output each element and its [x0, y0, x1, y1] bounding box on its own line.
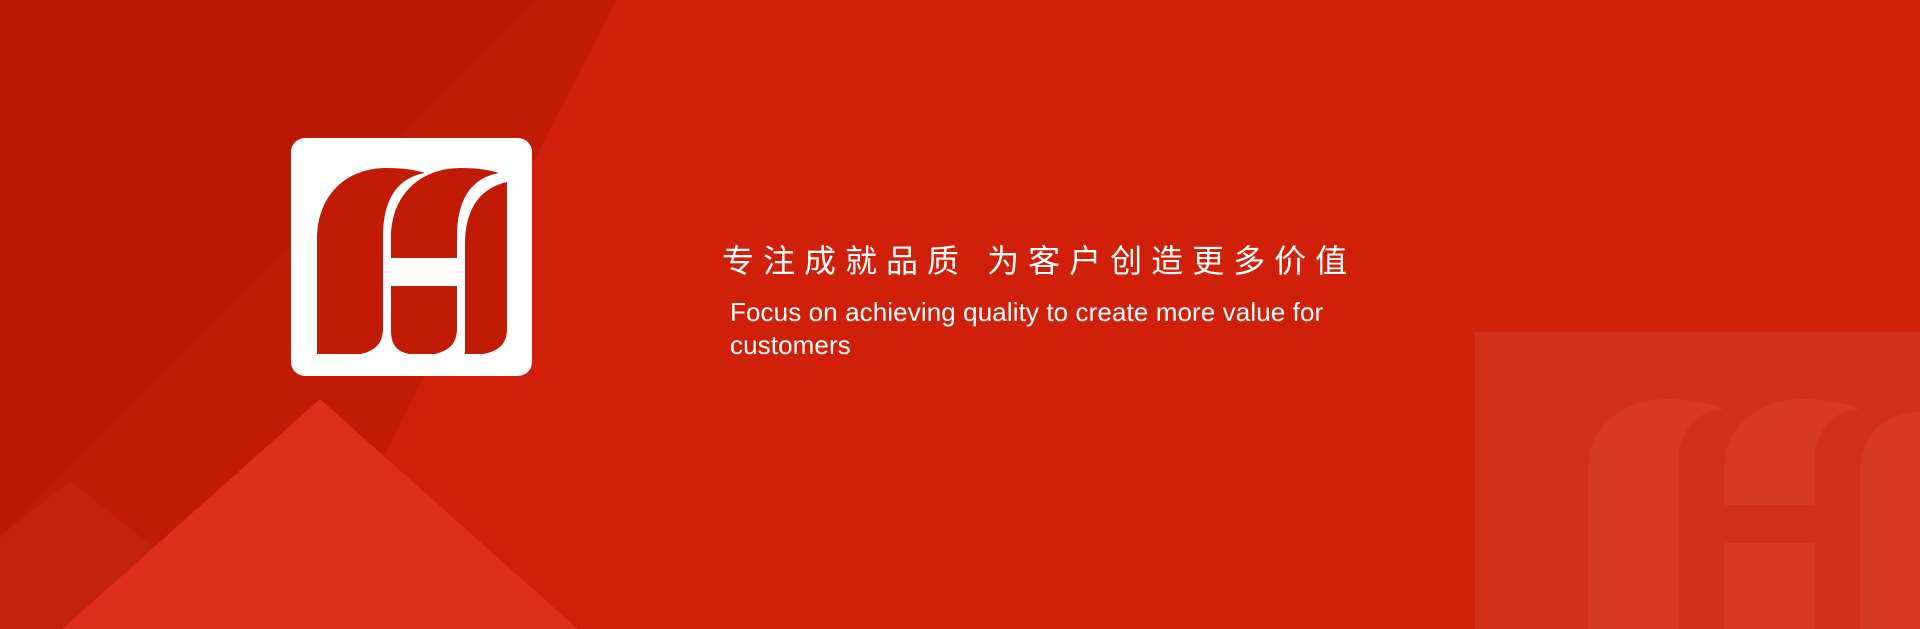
hero-banner: 专注成就品质 为客户创造更多价值 Focus on achieving qual…	[0, 0, 1920, 629]
slogan-chinese: 专注成就品质 为客户创造更多价值	[722, 240, 1622, 282]
background-triangle-accent	[60, 399, 580, 629]
slogan-english-line-1: Focus on achieving quality to create mor…	[730, 297, 1285, 327]
slogan-english: Focus on achieving quality to create mor…	[730, 296, 1370, 362]
logo-card	[291, 138, 532, 376]
logo-watermark	[1528, 375, 1920, 629]
slogan-block: 专注成就品质 为客户创造更多价值 Focus on achieving qual…	[722, 240, 1622, 362]
